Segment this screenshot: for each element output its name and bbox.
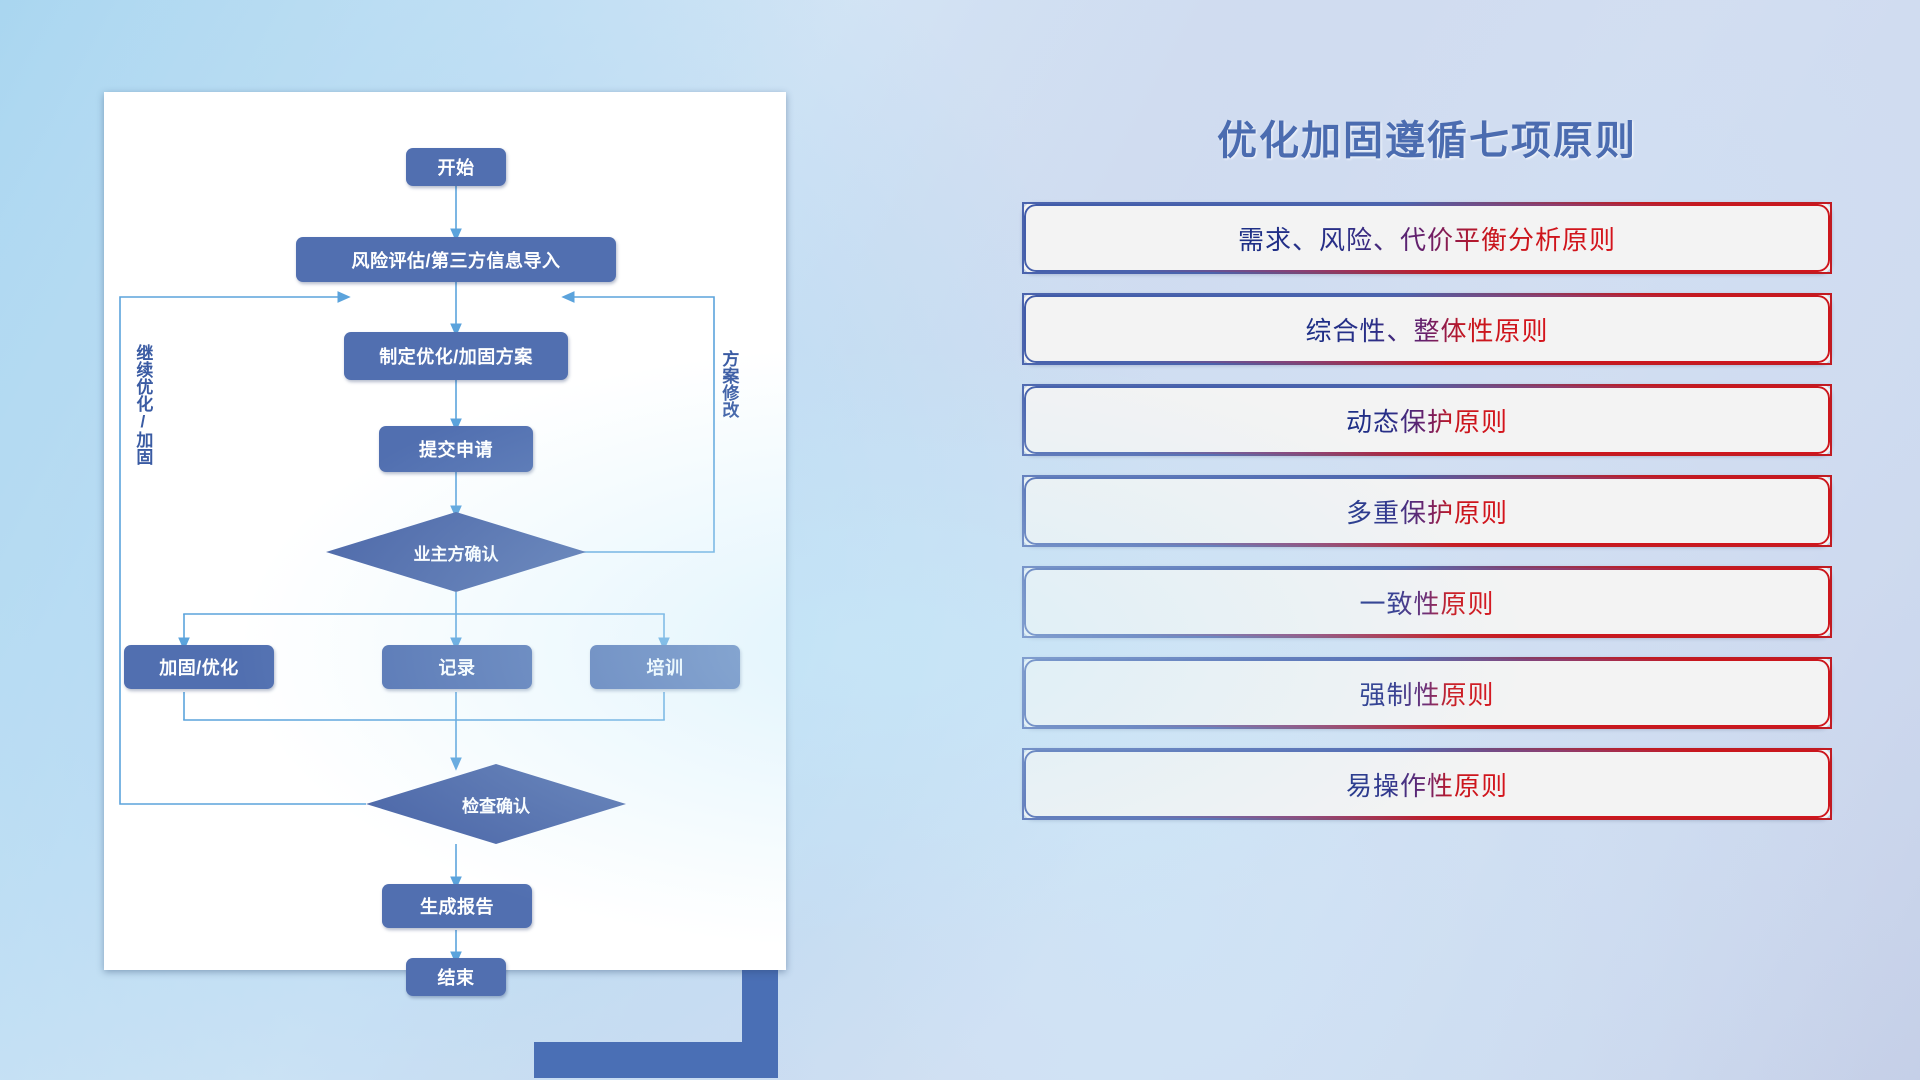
flow-node-record-label: 记录 [439, 654, 476, 680]
flow-node-submit-label: 提交申请 [419, 436, 493, 462]
accent-bar-horizontal [534, 1042, 778, 1078]
flow-node-reinforce-label: 加固/优化 [159, 654, 239, 680]
principle-label: 综合性、整体性原则 [1305, 311, 1548, 348]
flow-node-start[interactable]: 开始 [406, 148, 506, 186]
flow-node-owner-confirm-label: 业主方确认 [414, 540, 499, 565]
principles-list: 需求、风险、代价平衡分析原则 综合性、整体性原则 动态保护原则 多重保护原则 一… [1022, 202, 1832, 820]
flow-node-submit[interactable]: 提交申请 [379, 426, 533, 472]
flow-node-start-label: 开始 [438, 154, 475, 180]
flow-edge-label-right-loop: 方案修改 [720, 350, 737, 418]
principle-label: 动态保护原则 [1346, 402, 1508, 439]
principle-item[interactable]: 一致性原则 [1022, 566, 1832, 638]
flow-node-plan[interactable]: 制定优化/加固方案 [344, 332, 568, 380]
principle-item[interactable]: 易操作性原则 [1022, 748, 1832, 820]
principles-panel: 优化加固遵循七项原则 需求、风险、代价平衡分析原则 综合性、整体性原则 动态保护… [1022, 96, 1832, 1006]
principle-label: 多重保护原则 [1346, 493, 1508, 530]
flow-node-end[interactable]: 结束 [406, 958, 506, 996]
principle-item[interactable]: 动态保护原则 [1022, 384, 1832, 456]
flow-node-plan-label: 制定优化/加固方案 [379, 343, 533, 369]
flow-node-training[interactable]: 培训 [590, 645, 740, 689]
principle-item[interactable]: 多重保护原则 [1022, 475, 1832, 547]
flow-node-report[interactable]: 生成报告 [382, 884, 532, 928]
principle-item[interactable]: 强制性原则 [1022, 657, 1832, 729]
flow-node-end-label: 结束 [438, 964, 475, 990]
principle-item[interactable]: 综合性、整体性原则 [1022, 293, 1832, 365]
flowchart-card: 开始 风险评估/第三方信息导入 制定优化/加固方案 提交申请 业主方确认 加固/… [104, 92, 786, 970]
flow-node-risk-assessment[interactable]: 风险评估/第三方信息导入 [296, 237, 616, 282]
principle-item[interactable]: 需求、风险、代价平衡分析原则 [1022, 202, 1832, 274]
flow-node-record[interactable]: 记录 [382, 645, 532, 689]
panel-title: 优化加固遵循七项原则 [1022, 108, 1832, 166]
flow-node-training-label: 培训 [647, 654, 684, 680]
flow-edge-label-left-loop: 继续优化/加固 [134, 344, 151, 465]
principle-label: 易操作性原则 [1346, 766, 1508, 803]
flow-node-reinforce[interactable]: 加固/优化 [124, 645, 274, 689]
flowchart-region: 开始 风险评估/第三方信息导入 制定优化/加固方案 提交申请 业主方确认 加固/… [104, 92, 864, 982]
principle-label: 强制性原则 [1359, 675, 1494, 712]
principle-label: 一致性原则 [1359, 584, 1494, 621]
flow-node-report-label: 生成报告 [420, 893, 494, 919]
flowchart-diagram: 开始 风险评估/第三方信息导入 制定优化/加固方案 提交申请 业主方确认 加固/… [104, 92, 786, 970]
flow-node-check-confirm-label: 检查确认 [462, 792, 530, 817]
slide-canvas: 开始 风险评估/第三方信息导入 制定优化/加固方案 提交申请 业主方确认 加固/… [0, 0, 1920, 1080]
principle-label: 需求、风险、代价平衡分析原则 [1238, 220, 1616, 257]
flow-node-risk-assessment-label: 风险评估/第三方信息导入 [352, 247, 561, 273]
